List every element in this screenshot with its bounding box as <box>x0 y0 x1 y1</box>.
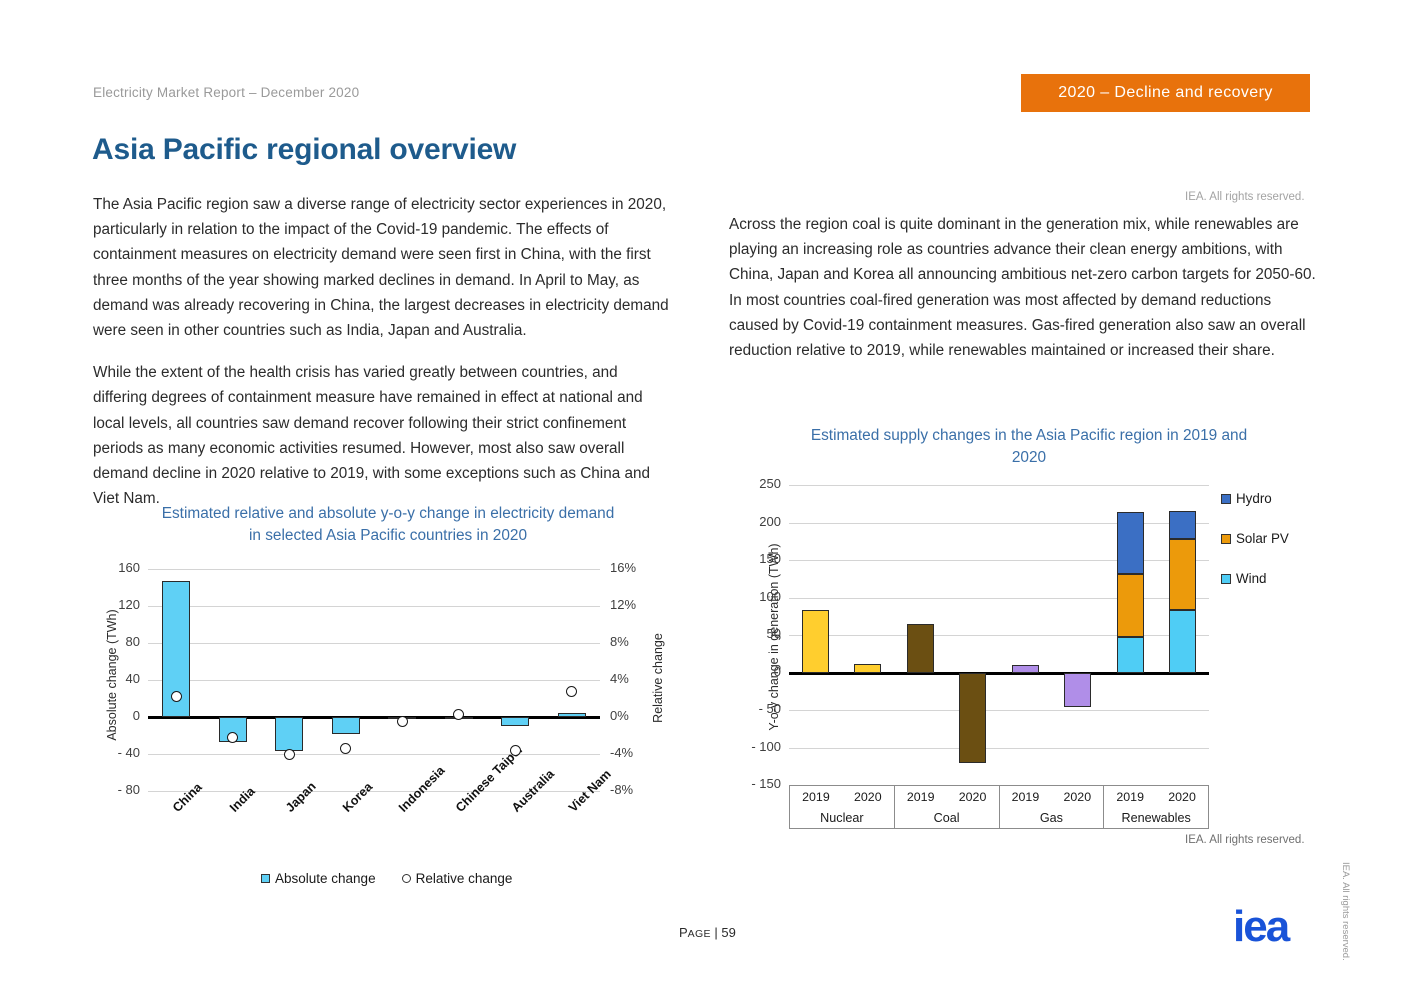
legend-marker-icon <box>402 874 411 883</box>
category-year-label: 2020 <box>1051 786 1103 807</box>
marker-relative-change <box>284 749 295 760</box>
paragraph: While the extent of the health crisis ha… <box>93 360 675 511</box>
chart-title: Estimated supply changes in the Asia Pac… <box>744 425 1314 469</box>
bar-segment <box>1117 512 1144 574</box>
y-axis-tick: 150 <box>733 551 781 566</box>
category-group-label: Coal <box>895 807 999 828</box>
footer-page-indicator: PAGE | 59 <box>679 925 736 940</box>
legend-label: Absolute change <box>275 871 376 886</box>
marker-relative-change <box>453 709 464 720</box>
marker-relative-change <box>566 686 577 697</box>
chart-legend: HydroSolar PVWind <box>1221 491 1289 611</box>
iea-logo: iea <box>1233 905 1288 949</box>
x-axis-label: India <box>227 784 258 815</box>
legend-swatch-icon <box>261 874 270 883</box>
right-text-column: Across the region coal is quite dominant… <box>729 212 1319 380</box>
y-axis-tick: 0 <box>96 708 140 723</box>
y-axis-tick: 100 <box>733 589 781 604</box>
y-axis-tick: 0 <box>733 664 781 679</box>
rights-notice-chart: IEA. All rights reserved. <box>1185 834 1305 846</box>
category-group: 20192020Coal <box>895 786 1000 828</box>
x-axis-label: Japan <box>283 779 319 815</box>
marker-relative-change <box>171 691 182 702</box>
bar-segment <box>1169 610 1196 673</box>
y-axis-tick: - 80 <box>96 782 140 797</box>
chart-supply-changes: Estimated supply changes in the Asia Pac… <box>729 425 1329 830</box>
page-separator: | <box>711 925 722 940</box>
y-axis-tick: 200 <box>733 514 781 529</box>
y2-axis-tick: 16% <box>610 560 654 575</box>
y2-axis-tick: 12% <box>610 597 654 612</box>
chart-title: Estimated relative and absolute y-o-y ch… <box>101 503 675 547</box>
chart-title-line-1: Estimated relative and absolute y-o-y ch… <box>101 503 675 525</box>
bar-segment <box>1169 539 1196 610</box>
page-number: 59 <box>721 925 735 940</box>
rights-notice-top: IEA. All rights reserved. <box>1185 191 1305 203</box>
side-rights-notice: IEA. All rights reserved. <box>1340 862 1351 961</box>
x-axis-label: Korea <box>340 780 375 815</box>
bar-absolute-change <box>501 717 529 726</box>
gridline <box>148 643 600 644</box>
marker-relative-change <box>340 743 351 754</box>
legend-item-hydro: Hydro <box>1221 491 1289 506</box>
y-axis-tick: - 150 <box>733 776 781 791</box>
y-axis-tick: 250 <box>733 476 781 491</box>
x-axis-label: Indonesia <box>396 763 447 814</box>
category-year-label: 2020 <box>947 786 999 807</box>
bar-segment <box>907 624 934 673</box>
y-axis-tick: 120 <box>96 597 140 612</box>
gridline <box>148 754 600 755</box>
category-years: 20192020 <box>790 786 894 807</box>
zero-axis-line <box>789 672 1209 675</box>
bar-segment <box>1064 673 1091 708</box>
chart-title-line-1: Estimated supply changes in the Asia Pac… <box>744 425 1314 447</box>
category-group-label: Gas <box>1000 807 1104 828</box>
gridline <box>789 710 1209 711</box>
bar-absolute-change <box>332 717 360 734</box>
gridline <box>789 635 1209 636</box>
category-group-label: Renewables <box>1104 807 1208 828</box>
bar-segment <box>1117 637 1144 672</box>
legend-label: Relative change <box>416 871 513 886</box>
bar-segment <box>959 673 986 764</box>
legend-swatch-icon <box>1221 534 1231 544</box>
gridline <box>148 606 600 607</box>
page-title: Asia Pacific regional overview <box>92 133 516 167</box>
chart-category-axis: 20192020Nuclear20192020Coal20192020Gas20… <box>789 785 1209 829</box>
category-year-label: 2020 <box>1156 786 1208 807</box>
running-head: Electricity Market Report – December 202… <box>93 85 359 100</box>
bar-segment <box>1169 511 1196 540</box>
bar-segment <box>1117 574 1144 638</box>
gridline <box>148 569 600 570</box>
category-year-label: 2019 <box>1000 786 1052 807</box>
chart-plot-area: 250200150100500- 50- 100- 150 <box>789 485 1209 785</box>
gridline <box>789 748 1209 749</box>
y-axis-tick: 80 <box>96 634 140 649</box>
category-years: 20192020 <box>1000 786 1104 807</box>
gridline <box>789 485 1209 486</box>
chart-title-line-2: in selected Asia Pacific countries in 20… <box>101 525 675 547</box>
y-axis-tick: - 40 <box>96 745 140 760</box>
bar-absolute-change <box>275 717 303 751</box>
y-axis-tick: - 100 <box>733 739 781 754</box>
category-year-label: 2019 <box>895 786 947 807</box>
legend-item-solar-pv: Solar PV <box>1221 531 1289 546</box>
y2-axis-tick: 0% <box>610 708 654 723</box>
document-page: Electricity Market Report – December 202… <box>0 0 1403 992</box>
y-axis-tick: 160 <box>96 560 140 575</box>
gridline <box>148 680 600 681</box>
bar-segment <box>854 664 881 673</box>
y2-axis-tick: 8% <box>610 634 654 649</box>
y2-axis-tick: -4% <box>610 745 654 760</box>
category-group: 20192020Gas <box>1000 786 1105 828</box>
legend-swatch-icon <box>1221 494 1231 504</box>
category-year-label: 2019 <box>790 786 842 807</box>
chart-plot-area: 16016%12012%808%404%00%- 40-4%- 80-8%Chi… <box>148 569 600 791</box>
chart-title-line-2: 2020 <box>744 447 1314 469</box>
category-years: 20192020 <box>1104 786 1208 807</box>
paragraph: Across the region coal is quite dominant… <box>729 212 1319 363</box>
y2-axis-tick: -8% <box>610 782 654 797</box>
legend-label: Wind <box>1236 571 1267 586</box>
y2-axis-tick: 4% <box>610 671 654 686</box>
page-word-rest: AGE <box>688 928 711 940</box>
category-year-label: 2019 <box>1104 786 1156 807</box>
category-group: 20192020Renewables <box>1104 786 1208 828</box>
y-axis-tick: - 50 <box>733 701 781 716</box>
marker-relative-change <box>510 745 521 756</box>
y-axis-tick: 40 <box>96 671 140 686</box>
chart-legend: Absolute change Relative change <box>261 871 512 886</box>
y-axis-tick: 50 <box>733 626 781 641</box>
category-group: 20192020Nuclear <box>790 786 895 828</box>
legend-swatch-icon <box>1221 574 1231 584</box>
marker-relative-change <box>397 716 408 727</box>
legend-label: Solar PV <box>1236 531 1289 546</box>
gridline <box>789 598 1209 599</box>
category-years: 20192020 <box>895 786 999 807</box>
legend-item-relative-change: Relative change <box>402 871 513 886</box>
bar-segment <box>1012 665 1039 673</box>
legend-item-wind: Wind <box>1221 571 1289 586</box>
left-text-column: The Asia Pacific region saw a diverse ra… <box>93 192 675 528</box>
legend-label: Hydro <box>1236 491 1272 506</box>
bar-absolute-change <box>558 713 586 717</box>
gridline <box>789 523 1209 524</box>
page-word-initial: P <box>679 925 688 940</box>
section-tag-banner: 2020 – Decline and recovery <box>1021 74 1310 112</box>
category-group-label: Nuclear <box>790 807 894 828</box>
x-axis-label: China <box>170 780 205 815</box>
paragraph: The Asia Pacific region saw a diverse ra… <box>93 192 675 343</box>
chart-demand-change: Estimated relative and absolute y-o-y ch… <box>93 503 683 898</box>
bar-segment <box>802 610 829 673</box>
category-year-label: 2020 <box>842 786 894 807</box>
gridline <box>789 560 1209 561</box>
zero-axis-line <box>148 716 600 719</box>
legend-item-absolute-change: Absolute change <box>261 871 376 886</box>
